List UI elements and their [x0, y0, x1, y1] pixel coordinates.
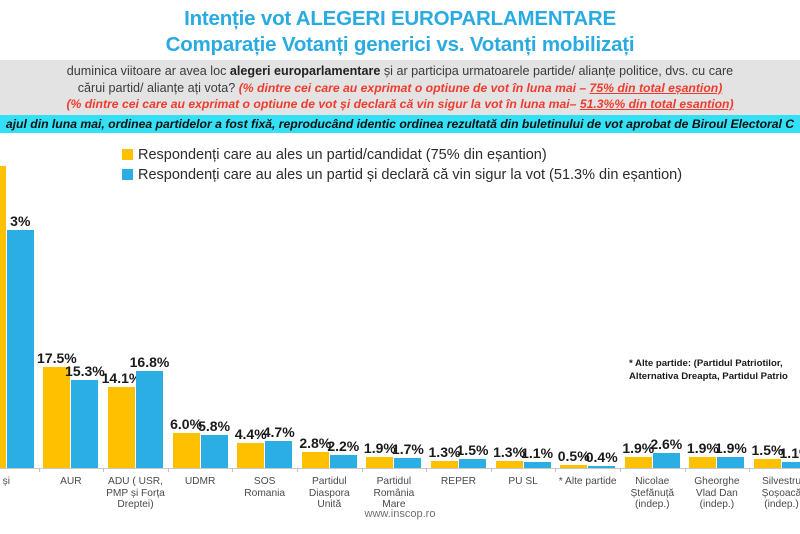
bar-0[interactable]: 2.8% — [302, 452, 329, 468]
category-label-line: Nicolae — [620, 476, 685, 488]
question-line-2-red-text: (% dintre cei care au exprimat o optiune… — [239, 81, 590, 95]
bar-pair: 2.8%2.2% — [297, 226, 362, 468]
bar-pair: 14.1%16.8% — [103, 226, 168, 468]
category-label-line: Silvestru — [749, 476, 800, 488]
bar-pair: 6.0%5.8% — [168, 226, 233, 468]
category-label-line: AUR — [39, 476, 104, 488]
bar-1[interactable]: 2.2% — [330, 455, 357, 468]
bar-pair: 1.3%1.1% — [491, 226, 556, 468]
bar-value-label: 1.1% — [780, 446, 800, 461]
question-line-3-red-text: (% dintre cei care au exprimat o optiune… — [66, 97, 579, 111]
bar-0[interactable]: 1.9% — [689, 457, 716, 468]
page-title: Intenție vot ALEGERI EUROPARLAMENTARE Co… — [0, 0, 800, 58]
category-label: PU SL — [491, 476, 556, 488]
category-label-line: Șoșoacă — [749, 488, 800, 500]
category-label-line: Diaspora — [297, 488, 362, 500]
bar-1[interactable]: 5.8% — [201, 435, 228, 468]
bar-group: 1.5%1.1% — [749, 226, 800, 468]
chart-legend: Respondenți care au ales un partid/candi… — [0, 147, 800, 183]
footnote-line-2: Alternativa Dreapta, Partidul Patrio — [629, 371, 800, 384]
bar-value-label: 1.9% — [715, 441, 747, 456]
question-line-2: cărui partid/ alianțe ați vota? (% dintr… — [0, 80, 800, 97]
bar-1[interactable]: 4.7% — [265, 441, 292, 468]
bar-value-label: 0.4% — [586, 450, 618, 465]
category-label-line: Gheorghe — [685, 476, 750, 488]
question-line-2-prefix: cărui partid/ alianțe ați vota? — [78, 81, 239, 95]
category-label: SilvestruȘoșoacă(indep.) — [749, 476, 800, 511]
bar-value-label: 1.7% — [392, 442, 424, 457]
bar-0[interactable]: 1.5% — [754, 459, 781, 468]
category-label: AUR — [39, 476, 104, 488]
bar-group: 1.9%2.6% — [620, 226, 685, 468]
question-line-3: (% dintre cei care au exprimat o optiune… — [0, 96, 800, 113]
category-label: NicolaeȘtefănuță(indep.) — [620, 476, 685, 511]
footnote-line-1: * Alte partide: (Partidul Patriotilor, — [629, 358, 800, 371]
legend-label-1: Respondenți care au ales un partid și de… — [138, 167, 682, 183]
bar-0[interactable]: 1.9% — [366, 457, 393, 468]
bar-pair: 1.9%2.6% — [620, 226, 685, 468]
category-label-line: Ștefănuță — [620, 488, 685, 500]
bar-pair: 3% — [0, 226, 39, 468]
category-label-line: PU SL — [491, 476, 556, 488]
question-line-2-red: (% dintre cei care au exprimat o optiune… — [239, 81, 723, 95]
bar-0[interactable]: 1.3% — [496, 461, 523, 468]
question-line-2-underline: 75% din total eșantion) — [590, 81, 723, 95]
title-line-1: Intenție vot ALEGERI EUROPARLAMENTARE — [0, 6, 800, 32]
bar-1[interactable]: 1.7% — [394, 458, 421, 468]
x-axis-line — [0, 468, 800, 469]
bar-group: 17.5%15.3% — [39, 226, 104, 468]
bar-1[interactable]: 2.6% — [653, 453, 680, 468]
bar-group: 3% — [0, 226, 39, 468]
title-line-2: Comparație Votanți generici vs. Votanți … — [0, 32, 800, 58]
legend-item-1[interactable]: Respondenți care au ales un partid și de… — [122, 167, 800, 183]
axis-tick — [555, 468, 556, 472]
axis-tick — [620, 468, 621, 472]
category-label-line: Partidul — [297, 476, 362, 488]
bar-0[interactable] — [0, 166, 6, 469]
category-label-line: * Alte partide — [555, 476, 620, 488]
bar-value-label: 3% — [10, 214, 30, 229]
bar-pair: 0.5%0.4% — [555, 226, 620, 468]
question-line-1: duminica viitoare ar avea loc alegeri eu… — [0, 63, 800, 80]
axis-tick — [749, 468, 750, 472]
bar-0[interactable]: 6.0% — [173, 433, 200, 468]
bar-value-label: 1.1% — [521, 446, 553, 461]
bar-0[interactable]: 1.9% — [625, 457, 652, 468]
bar-pair: 17.5%15.3% — [39, 226, 104, 468]
axis-tick — [232, 468, 233, 472]
bar-group: 2.8%2.2% — [297, 226, 362, 468]
bar-0[interactable]: 1.3% — [431, 461, 458, 468]
axis-tick — [426, 468, 427, 472]
plot-area: 3%17.5%15.3%14.1%16.8%6.0%5.8%4.4%4.7%2.… — [0, 226, 800, 468]
category-label: ADU ( USR,PMP și ForțaDreptei) — [103, 476, 168, 511]
category-label: GheorgheVlad Dan(indep.) — [685, 476, 750, 511]
other-parties-footnote: * Alte partide: (Partidul Patriotilor, A… — [629, 358, 800, 383]
bar-group: 1.3%1.5% — [426, 226, 491, 468]
legend-item-0[interactable]: Respondenți care au ales un partid/candi… — [122, 147, 800, 163]
bar-value-label: 2.6% — [650, 437, 682, 452]
axis-tick — [685, 468, 686, 472]
bar-0[interactable]: 14.1% — [108, 387, 135, 468]
legend-swatch-icon-1 — [122, 169, 133, 180]
bar-group: 6.0%5.8% — [168, 226, 233, 468]
axis-tick — [103, 468, 104, 472]
bar-group: 0.5%0.4% — [555, 226, 620, 468]
bar-pair: 1.3%1.5% — [426, 226, 491, 468]
category-label-line: și — [0, 476, 39, 488]
bar-group: 1.3%1.1% — [491, 226, 556, 468]
category-label-line: REPER — [426, 476, 491, 488]
legend-label-0: Respondenți care au ales un partid/candi… — [138, 147, 547, 163]
bar-0[interactable]: 4.4% — [237, 443, 264, 468]
category-label-line: Vlad Dan — [685, 488, 750, 500]
bar-1[interactable]: 16.8% — [136, 371, 163, 468]
methodology-note-banner: ajul din luna mai, ordinea partidelor a … — [0, 115, 800, 133]
axis-tick — [39, 468, 40, 472]
bar-pair: 1.5%1.1% — [749, 226, 800, 468]
axis-tick — [297, 468, 298, 472]
bar-1[interactable]: 15.3% — [71, 380, 98, 468]
bar-pair: 4.4%4.7% — [232, 226, 297, 468]
category-label: SOS Romania — [232, 476, 297, 499]
bar-1[interactable]: 1.9% — [717, 457, 744, 468]
question-line-1-suffix: și ar participa urmatoarele partide/ ali… — [380, 64, 733, 78]
category-label-line: PMP și Forța — [103, 488, 168, 500]
bar-0[interactable]: 17.5% — [43, 367, 70, 468]
category-label-line: UDMR — [168, 476, 233, 488]
question-line-3-underline: 51.3%% din total esantion) — [580, 97, 734, 111]
category-label: UDMR — [168, 476, 233, 488]
bar-value-label: 1.5% — [457, 443, 489, 458]
legend-swatch-icon-0 — [122, 149, 133, 160]
category-label: REPER — [426, 476, 491, 488]
bar-pair: 1.9%1.7% — [362, 226, 427, 468]
axis-tick — [491, 468, 492, 472]
methodology-note-text: ajul din luna mai, ordinea partidelor a … — [0, 116, 800, 132]
bar-pair: 1.9%1.9% — [685, 226, 750, 468]
bar-value-label: 16.8% — [130, 355, 170, 370]
bar-value-label: 5.8% — [198, 419, 230, 434]
axis-tick — [168, 468, 169, 472]
category-label-line: Partidul — [362, 476, 427, 488]
bar-1[interactable]: 3% — [7, 230, 34, 468]
category-label: * Alte partide — [555, 476, 620, 488]
bar-group: 14.1%16.8% — [103, 226, 168, 468]
source-url: www.inscop.ro — [0, 508, 800, 520]
category-label: și — [0, 476, 39, 488]
category-label: PartidulRomânia Mare — [362, 476, 427, 511]
bar-value-label: 2.2% — [327, 439, 359, 454]
question-line-1-bold: alegeri europarlamentare — [230, 64, 381, 78]
category-label-line: SOS Romania — [232, 476, 297, 499]
bar-group: 4.4%4.7% — [232, 226, 297, 468]
bar-group: 1.9%1.7% — [362, 226, 427, 468]
question-line-1-prefix: duminica viitoare ar avea loc — [67, 64, 230, 78]
axis-tick — [362, 468, 363, 472]
bar-value-label: 4.7% — [263, 425, 295, 440]
question-banner: duminica viitoare ar avea loc alegeri eu… — [0, 60, 800, 115]
question-line-3-red: (% dintre cei care au exprimat o optiune… — [66, 97, 733, 111]
bar-group: 1.9%1.9% — [685, 226, 750, 468]
bar-value-label: 15.3% — [65, 364, 105, 379]
category-label-line: ADU ( USR, — [103, 476, 168, 488]
bar-1[interactable]: 1.5% — [459, 459, 486, 468]
category-label: PartidulDiasporaUnită — [297, 476, 362, 511]
